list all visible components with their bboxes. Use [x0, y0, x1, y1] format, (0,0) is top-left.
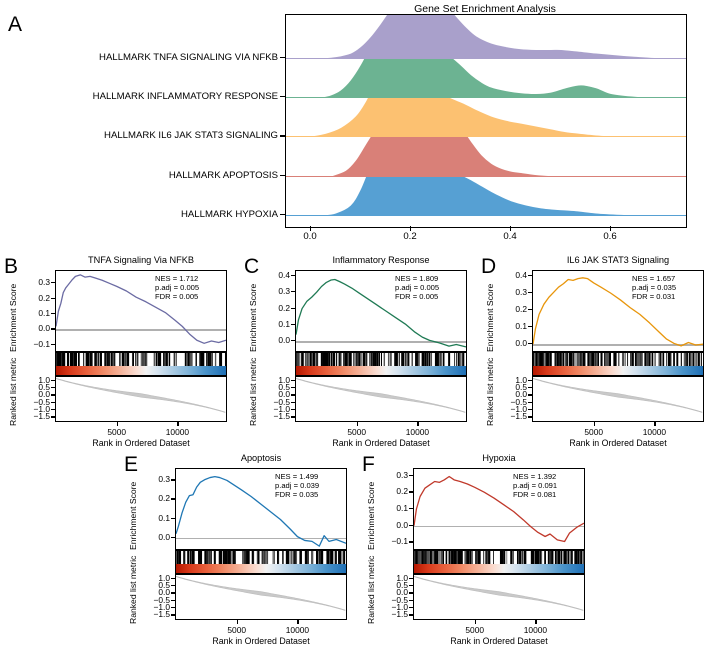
es-y-tick-label: 0.0 — [17, 323, 50, 333]
es-y-tick — [51, 298, 55, 299]
stat-padj: p.adj = 0.005 — [395, 283, 439, 292]
rank-y-tick — [528, 387, 532, 388]
rank-y-tick — [291, 402, 295, 403]
gene-hit-ticks — [56, 353, 226, 366]
x-tick — [417, 422, 418, 426]
es-y-tick-label: 0.1 — [375, 503, 408, 513]
es-y-tick-label: 0.2 — [257, 303, 290, 313]
es-y-tick — [409, 508, 413, 509]
es-axis-label: Enrichment Score — [485, 284, 495, 352]
ridgeline-plot-area — [285, 14, 687, 228]
stat-fdr: FDR = 0.031 — [632, 292, 676, 301]
es-y-tick-label: −0.1 — [17, 339, 50, 349]
rank-y-tick — [171, 600, 175, 601]
ridgeline-label-1: HALLMARK TNFA SIGNALING VIA NFKB — [8, 52, 278, 63]
rank-y-tick-label: −1.5 — [17, 411, 50, 421]
ridgeline-y-tick — [280, 214, 285, 215]
x-tick — [237, 620, 238, 624]
rank-color-gradient-bar — [296, 366, 466, 376]
gsea-title-c: Inflammatory Response — [295, 255, 467, 265]
gsea-panel-c: CInflammatory Response0.40.30.20.10.0Enr… — [240, 252, 472, 444]
ridgeline-row-1 — [286, 14, 686, 59]
rank-y-tick — [528, 409, 532, 410]
es-y-tick — [291, 275, 295, 276]
ridgeline-label-2: HALLMARK INFLAMMATORY RESPONSE — [8, 91, 278, 102]
es-y-tick — [51, 313, 55, 314]
rank-axis-label: Ranked list metric — [128, 556, 138, 624]
rank-color-gradient-bar — [176, 564, 346, 574]
rank-color-gradient-bar — [533, 366, 703, 376]
es-y-tick-label: 0.0 — [375, 520, 408, 530]
x-tick-label: 5000 — [334, 427, 380, 437]
ridgeline-y-tick — [280, 175, 285, 176]
ridgeline-label-5: HALLMARK HYPOXIA — [8, 209, 278, 220]
es-y-tick-label: 0.2 — [494, 304, 527, 314]
es-y-tick-label: 0.2 — [17, 293, 50, 303]
gene-hit-tick-band-b — [55, 352, 227, 376]
es-y-tick-label: 0.1 — [17, 308, 50, 318]
es-y-tick — [528, 292, 532, 293]
ranked-list-metric-plot-d — [532, 376, 704, 422]
enrichment-score-plot-d — [532, 270, 704, 352]
x-tick — [535, 620, 536, 624]
es-axis-label: Enrichment Score — [128, 482, 138, 550]
es-y-tick-label: 0.2 — [375, 486, 408, 496]
ridgeline-x-tick-label: 0.6 — [590, 231, 630, 242]
rank-axis-label: Ranked list metric — [8, 358, 18, 426]
es-y-tick — [291, 291, 295, 292]
x-tick — [177, 422, 178, 426]
es-axis-label: Enrichment Score — [8, 284, 18, 352]
panel-letter-f: F — [362, 454, 375, 475]
rank-y-tick — [171, 592, 175, 593]
ridgeline-density-area — [321, 14, 671, 59]
x-tick — [117, 422, 118, 426]
stat-nes: NES = 1.499 — [275, 472, 319, 481]
es-y-tick-label: 0.4 — [494, 270, 527, 280]
rank-y-tick — [51, 409, 55, 410]
enrichment-score-curve — [296, 279, 466, 346]
gene-hit-tick-band-f — [413, 550, 585, 574]
stat-padj: p.adj = 0.005 — [155, 283, 199, 292]
rank-axis-label: Ranked list metric — [366, 556, 376, 624]
es-y-tick-label: 0.3 — [137, 474, 170, 484]
gsea-panel-d: DIL6 JAK STAT3 Signaling0.40.30.20.10.0E… — [477, 252, 709, 444]
es-y-tick — [171, 518, 175, 519]
ridgeline-x-tick-label: 0.2 — [390, 231, 430, 242]
rank-color-gradient-bar — [414, 564, 584, 574]
es-y-tick-label: 0.4 — [257, 270, 290, 280]
rank-y-tick — [291, 380, 295, 381]
x-tick — [475, 620, 476, 624]
es-y-tick — [409, 475, 413, 476]
es-y-tick-label: 0.1 — [494, 321, 527, 331]
es-y-tick — [291, 308, 295, 309]
x-axis-title: Rank in Ordered Dataset — [175, 636, 347, 646]
ridgeline-y-tick — [280, 96, 285, 97]
rank-y-tick — [409, 592, 413, 593]
stat-nes: NES = 1.809 — [395, 274, 439, 283]
rank-y-tick — [528, 394, 532, 395]
es-y-tick — [291, 324, 295, 325]
panel-letter-e: E — [124, 454, 138, 475]
stat-nes: NES = 1.712 — [155, 274, 199, 283]
gsea-stats-f: NES = 1.392p.adj = 0.091FDR = 0.081 — [513, 472, 557, 499]
x-tick — [357, 422, 358, 426]
stat-nes: NES = 1.657 — [632, 274, 676, 283]
gene-hit-tick-band-e — [175, 550, 347, 574]
gene-hit-tick-band-d — [532, 352, 704, 376]
es-y-tick — [409, 491, 413, 492]
rank-y-tick — [409, 578, 413, 579]
x-tick-label: 5000 — [571, 427, 617, 437]
gene-hit-tick-band-c — [295, 352, 467, 376]
es-y-tick-label: 0.3 — [257, 286, 290, 296]
gene-hit-ticks — [176, 551, 346, 564]
gsea-panel-f: FHypoxia0.30.20.10.0−0.1Enrichment Score… — [358, 450, 590, 642]
rank-y-tick — [171, 585, 175, 586]
stat-fdr: FDR = 0.005 — [395, 292, 439, 301]
gsea-title-f: Hypoxia — [413, 453, 585, 463]
x-axis-title: Rank in Ordered Dataset — [532, 438, 704, 448]
ridgeline-x-tick-label: 0.4 — [490, 231, 530, 242]
x-axis-title: Rank in Ordered Dataset — [413, 636, 585, 646]
rank-y-tick — [51, 394, 55, 395]
ranked-metric-area — [56, 378, 225, 412]
rank-y-tick — [51, 387, 55, 388]
panel-letter-a: A — [8, 14, 22, 35]
rank-y-tick — [291, 416, 295, 417]
enrichment-score-curve — [414, 477, 584, 542]
rank-axis-label: Ranked list metric — [485, 358, 495, 426]
rank-y-tick — [528, 380, 532, 381]
es-y-tick — [409, 541, 413, 542]
x-tick — [297, 620, 298, 624]
es-y-tick-label: 0.0 — [494, 338, 527, 348]
gsea-panel-b: BTNFA Signaling Via NFKB0.30.20.10.0−0.1… — [0, 252, 232, 444]
es-y-tick — [409, 525, 413, 526]
es-y-tick-label: 0.0 — [257, 335, 290, 345]
rank-y-tick-label: −1.5 — [494, 411, 527, 421]
enrichment-score-plot-f — [413, 468, 585, 550]
ranked-list-metric-plot-e — [175, 574, 347, 620]
gsea-title-b: TNFA Signaling Via NFKB — [55, 255, 227, 265]
es-y-tick-label: 0.0 — [137, 532, 170, 542]
stat-fdr: FDR = 0.035 — [275, 490, 319, 499]
x-tick-label: 10000 — [512, 625, 558, 635]
es-y-tick — [171, 479, 175, 480]
es-y-tick-label: 0.1 — [137, 513, 170, 523]
panel-a-ridgeline: A Gene Set Enrichment Analysis HALLMARK … — [0, 0, 719, 248]
gene-hit-ticks — [414, 551, 584, 564]
ridgeline-y-tick — [280, 57, 285, 58]
enrichment-score-curve — [533, 278, 703, 346]
es-y-tick — [51, 282, 55, 283]
x-tick-label: 10000 — [394, 427, 440, 437]
enrichment-score-curve — [176, 477, 346, 547]
gsea-panel-e: EApoptosis0.30.20.10.0Enrichment Score1.… — [120, 450, 352, 642]
gsea-stats-b: NES = 1.712p.adj = 0.005FDR = 0.005 — [155, 274, 199, 301]
ridgeline-label-4: HALLMARK APOPTOSIS — [8, 170, 278, 181]
gsea-stats-c: NES = 1.809p.adj = 0.005FDR = 0.005 — [395, 274, 439, 301]
es-y-tick — [528, 309, 532, 310]
stat-fdr: FDR = 0.081 — [513, 490, 557, 499]
enrichment-score-plot-c — [295, 270, 467, 352]
x-tick-label: 10000 — [274, 625, 320, 635]
x-axis-title: Rank in Ordered Dataset — [295, 438, 467, 448]
rank-y-tick — [528, 402, 532, 403]
gene-hit-ticks — [533, 353, 703, 366]
es-y-tick-label: 0.1 — [257, 319, 290, 329]
enrichment-score-curve — [56, 275, 226, 343]
es-y-tick — [51, 344, 55, 345]
ridgeline-y-tick — [280, 135, 285, 136]
ranked-list-metric-plot-f — [413, 574, 585, 620]
rank-y-tick — [51, 416, 55, 417]
es-y-tick — [171, 537, 175, 538]
rank-color-gradient-bar — [56, 366, 226, 376]
rank-y-tick — [409, 607, 413, 608]
es-y-tick-label: 0.3 — [375, 470, 408, 480]
ridgeline-x-tick-label: 0.0 — [290, 231, 330, 242]
rank-y-tick — [51, 402, 55, 403]
es-y-tick — [528, 275, 532, 276]
rank-y-tick — [171, 614, 175, 615]
rank-y-tick — [291, 409, 295, 410]
enrichment-score-plot-e — [175, 468, 347, 550]
x-tick-label: 5000 — [214, 625, 260, 635]
gsea-stats-d: NES = 1.657p.adj = 0.035FDR = 0.031 — [632, 274, 676, 301]
rank-y-tick-label: −1.5 — [375, 609, 408, 619]
gsea-title-e: Apoptosis — [175, 453, 347, 463]
es-y-tick — [291, 340, 295, 341]
ridgeline-label-3: HALLMARK IL6 JAK STAT3 SIGNALING — [8, 130, 278, 141]
ranked-list-metric-plot-b — [55, 376, 227, 422]
ranked-metric-area — [296, 378, 465, 412]
x-tick-label: 10000 — [154, 427, 200, 437]
rank-y-tick — [171, 578, 175, 579]
x-tick-label: 5000 — [94, 427, 140, 437]
es-axis-label: Enrichment Score — [366, 482, 376, 550]
rank-y-tick — [409, 600, 413, 601]
rank-y-tick — [528, 416, 532, 417]
rank-y-tick-label: −1.5 — [137, 609, 170, 619]
ranked-metric-area — [176, 576, 345, 610]
x-tick-label: 5000 — [452, 625, 498, 635]
x-tick-label: 10000 — [631, 427, 677, 437]
enrichment-score-plot-b — [55, 270, 227, 352]
rank-y-tick — [409, 614, 413, 615]
rank-axis-label: Ranked list metric — [248, 358, 258, 426]
es-y-tick-label: −0.1 — [375, 536, 408, 546]
stat-fdr: FDR = 0.005 — [155, 292, 199, 301]
gene-hit-ticks — [296, 353, 466, 366]
ranked-list-metric-plot-c — [295, 376, 467, 422]
es-y-tick — [51, 328, 55, 329]
es-y-tick — [171, 498, 175, 499]
stat-nes: NES = 1.392 — [513, 472, 557, 481]
panel-letter-b: B — [4, 256, 18, 277]
rank-y-tick — [291, 394, 295, 395]
rank-y-tick — [51, 380, 55, 381]
es-y-tick-label: 0.3 — [494, 287, 527, 297]
rank-y-tick — [409, 585, 413, 586]
es-y-tick-label: 0.2 — [137, 493, 170, 503]
gsea-title-d: IL6 JAK STAT3 Signaling — [532, 255, 704, 265]
es-y-tick-label: 0.3 — [17, 277, 50, 287]
stat-padj: p.adj = 0.039 — [275, 481, 319, 490]
rank-y-tick — [291, 387, 295, 388]
es-y-tick — [528, 326, 532, 327]
rank-y-tick — [171, 607, 175, 608]
es-y-tick — [528, 343, 532, 344]
es-axis-label: Enrichment Score — [248, 284, 258, 352]
ranked-metric-area — [414, 576, 583, 610]
x-axis-title: Rank in Ordered Dataset — [55, 438, 227, 448]
x-tick — [654, 422, 655, 426]
rank-y-tick-label: −1.5 — [257, 411, 290, 421]
x-tick — [594, 422, 595, 426]
stat-padj: p.adj = 0.091 — [513, 481, 557, 490]
ranked-metric-area — [533, 378, 702, 412]
stat-padj: p.adj = 0.035 — [632, 283, 676, 292]
gsea-stats-e: NES = 1.499p.adj = 0.039FDR = 0.035 — [275, 472, 319, 499]
